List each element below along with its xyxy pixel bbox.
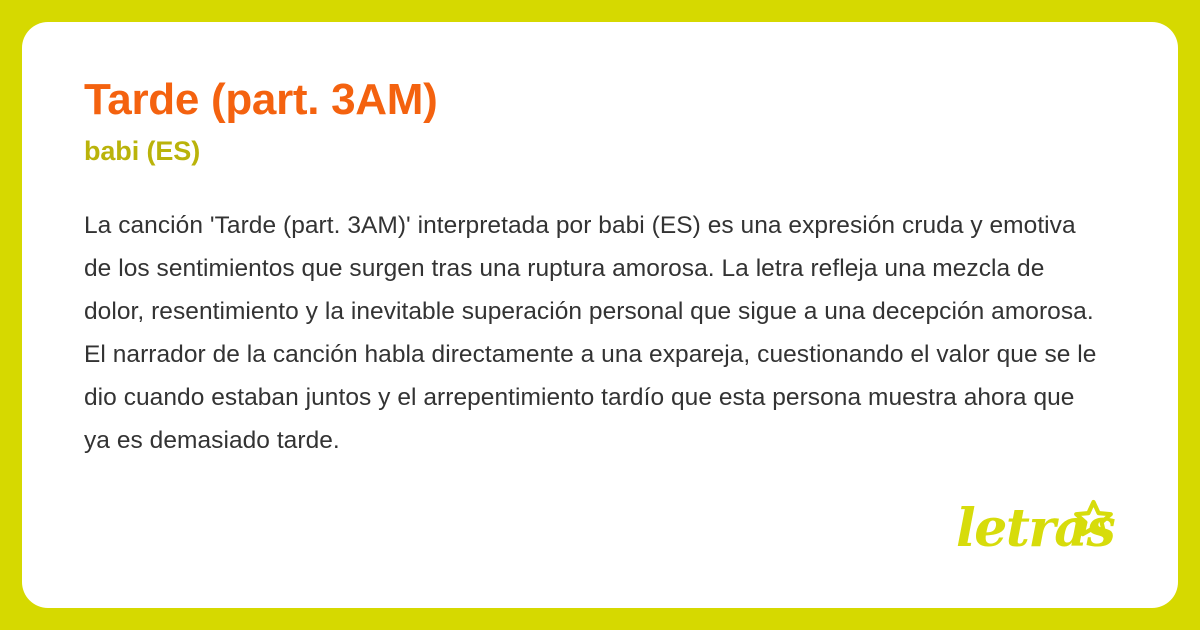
song-description: La canción 'Tarde (part. 3AM)' interpret… [84,204,1104,462]
og-image-canvas: Tarde (part. 3AM) babi (ES) La canción '… [0,0,1200,630]
letras-logo: letras [956,498,1116,560]
lyrics-summary-card: Tarde (part. 3AM) babi (ES) La canción '… [22,22,1178,608]
artist-name: babi (ES) [84,134,1116,168]
page-title: Tarde (part. 3AM) [84,74,1116,126]
